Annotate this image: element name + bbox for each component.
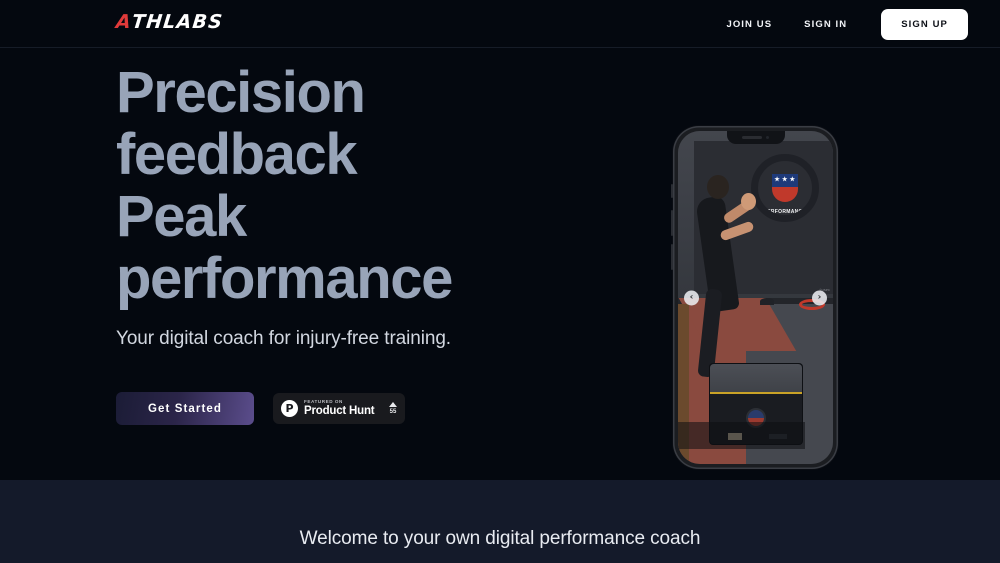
nav-item-join-us[interactable]: JOIN US [710, 19, 788, 30]
headline-line-4: performance [116, 246, 452, 311]
landing-page: ATHLABS JOIN US SIGN IN SIGN UP Precisio… [0, 0, 1000, 563]
main-nav: JOIN US SIGN IN SIGN UP [710, 0, 968, 48]
training-video[interactable]: UNITED STATES ★ ★ ★ PERFORMANCE CENTER ©… [678, 131, 833, 464]
hero-cta-row: Get Started P FEATURED ON Product Hunt 5… [116, 392, 405, 425]
athlete-hand [741, 193, 756, 210]
phone-speaker-icon [742, 136, 762, 139]
athlete-figure [687, 158, 758, 378]
carousel-prev-button[interactable]: ‹ [684, 290, 699, 305]
video-control-bar[interactable] [678, 422, 805, 449]
usp-center-crest-icon: UNITED STATES ★ ★ ★ PERFORMANCE CENTER [751, 154, 819, 222]
headline-line-2: feedback [116, 122, 356, 187]
athlete-head [707, 175, 729, 199]
site-header: ATHLABS JOIN US SIGN IN SIGN UP [0, 0, 1000, 48]
crest-shield-icon: ★ ★ ★ [772, 174, 798, 202]
get-started-button[interactable]: Get Started [116, 392, 254, 425]
product-hunt-votes: 55 [385, 402, 397, 415]
upvote-arrow-icon [389, 402, 397, 407]
hero-subtitle: Your digital coach for injury-free train… [116, 328, 451, 350]
sign-up-button[interactable]: SIGN UP [881, 9, 968, 40]
phone-screen: UNITED STATES ★ ★ ★ PERFORMANCE CENTER ©… [678, 131, 833, 464]
phone-notch [727, 131, 785, 144]
product-hunt-name: Product Hunt [304, 406, 385, 418]
hero-section: Precision feedback Peak performance Your… [0, 48, 1000, 480]
welcome-section: Welcome to your own digital performance … [0, 480, 1000, 563]
product-hunt-vote-count: 55 [389, 409, 397, 415]
product-hunt-badge[interactable]: P FEATURED ON Product Hunt 55 [273, 393, 405, 424]
training-cone [760, 298, 774, 305]
phone-camera-icon [766, 136, 769, 139]
phone-mute-switch [671, 184, 673, 198]
carousel-next-button[interactable]: › [812, 290, 827, 305]
phone-volume-up-button [671, 210, 673, 236]
brand-logo[interactable]: ATHLABS [116, 13, 223, 32]
product-hunt-icon: P [281, 400, 298, 417]
phone-mockup: UNITED STATES ★ ★ ★ PERFORMANCE CENTER ©… [673, 126, 838, 469]
product-hunt-featured-label: FEATURED ON [304, 400, 385, 405]
headline-line-1: Precision [116, 60, 365, 125]
plyo-box-top [710, 364, 802, 394]
crest-stars: ★ ★ ★ [774, 177, 795, 183]
phone-volume-down-button [671, 244, 673, 270]
welcome-headline: Welcome to your own digital performance … [300, 528, 701, 550]
logo-wordmark: THLABS [131, 13, 224, 32]
nav-item-sign-in[interactable]: SIGN IN [788, 19, 863, 30]
headline-line-3: Peak [116, 184, 246, 249]
hero-headline: Precision feedback Peak performance [116, 62, 452, 310]
product-hunt-text: FEATURED ON Product Hunt [304, 400, 385, 417]
